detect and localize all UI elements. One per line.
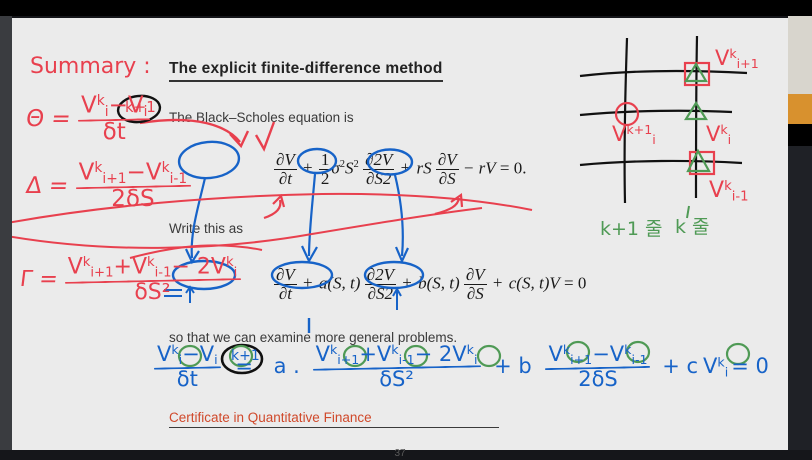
dv-dt-fraction-2: ∂V ∂t [274, 266, 297, 303]
page-title: The explicit finite-difference method [169, 60, 443, 82]
arrow-diffusion-to-a [192, 178, 205, 258]
scheme-delta-den: 2δS [545, 369, 650, 390]
delta-v2: V [146, 160, 162, 186]
scheme-lhs-v1: V [157, 342, 171, 366]
grid-label-middle-left-sub: i [652, 132, 656, 147]
scheme-d-v1-sup: k [563, 342, 570, 357]
theta-symbol: Θ = [24, 106, 72, 132]
scheme-lhs-fraction: Vki−Vi δt [154, 344, 221, 390]
scheme-d-v1: V [548, 342, 562, 366]
grid-hline-mid [580, 111, 732, 115]
grid-label-middle-right-sup: k [720, 122, 727, 137]
grid-label-bottom-right-sup: k [724, 179, 732, 194]
red-arrowhead-right [435, 195, 462, 214]
delta-minus: − [127, 160, 146, 186]
theta-v1: V [81, 93, 97, 119]
theta-v1-sup: k [97, 93, 105, 109]
d2v-ds2-fraction: ∂2V ∂S2 [363, 151, 394, 188]
gamma-v2-sup: k [147, 255, 155, 270]
grid-label-bottom-right-sub: i-1 [732, 189, 749, 204]
window-top-bar [0, 0, 812, 16]
delta-v1-sub: i+1 [102, 171, 126, 187]
delta-symbol: Δ = [24, 173, 70, 199]
gamma-symbol: Γ = [18, 267, 59, 292]
dv-ds-fraction: ∂V ∂S [436, 151, 459, 188]
dv-dt-fraction: ∂V ∂t [274, 151, 297, 188]
arrow-drift-to-b-head [302, 246, 317, 261]
footer-brand: Certificate in Quantitative Finance [169, 410, 499, 428]
gamma-v1-sub: i+1 [90, 266, 113, 281]
delta-denominator: 2δS [76, 188, 191, 211]
grid-label-top-right-sub: i+1 [737, 56, 759, 71]
grid-label-top-right-sup: k [729, 46, 736, 61]
scheme-gamma-fraction: Vki+1+Vki-1− 2Vki δS² [313, 344, 481, 390]
dv-ds-fraction-2: ∂V ∂S [464, 266, 487, 303]
grid-note-right: k 줄 [675, 212, 710, 239]
grid-label-middle-left-sup: k+1 [626, 122, 652, 137]
grid-label-middle-right-sub: i [728, 132, 732, 147]
grid-hline-bottom [580, 161, 742, 165]
grid-marker-square-bottom [690, 152, 714, 174]
delta-v2-sup: k [162, 160, 170, 176]
equals-zero-2: = 0 [564, 273, 586, 292]
gamma-plus: + [114, 254, 132, 279]
arrow-discount-to-c-head [396, 247, 408, 261]
grid-label-top-right-v: V [715, 46, 729, 70]
s-symbol: S [345, 158, 354, 177]
scheme-g-v2-sub: i-1 [399, 352, 415, 367]
lecture-slide: The explicit finite-difference method Th… [12, 18, 788, 450]
scheme-lhs-v2: V [200, 342, 214, 366]
grid-hline-top [580, 71, 747, 76]
grid-label-middle-right-v: V [706, 122, 720, 146]
black-scholes-equation: ∂V ∂t + 1 2 σ2S2 ∂2V ∂S2 + rS ∂V ∂S − rV… [274, 151, 526, 188]
delta-v1: V [79, 160, 95, 186]
write-this-as-text: Write this as [169, 221, 243, 236]
equals-zero-1: = 0. [500, 158, 527, 177]
red-check-mark [256, 122, 274, 149]
scheme-g-v3-sup: k [467, 342, 474, 357]
rs-term: rS [416, 158, 431, 177]
a-coefficient: a(S, t) [319, 273, 361, 292]
scheme-g-v2: V [377, 342, 391, 366]
gamma-v1: V [68, 254, 83, 279]
grid-vline-right [696, 36, 697, 198]
scheme-plus-b: + b [487, 354, 539, 378]
grid-label-top-right: Vki+1 [715, 46, 759, 71]
grid-marker-triangle-mid [686, 103, 706, 119]
scheme-delta-fraction: Vki+1−Vki-1 2δS [545, 344, 650, 390]
grid-marker-triangle-bottom [688, 151, 709, 171]
gamma-minus-2v: − 2V [171, 254, 225, 279]
scheme-g-v1: V [316, 342, 330, 366]
plus-sign-1: + [301, 158, 315, 177]
sigma-symbol: σ [331, 158, 339, 177]
gamma-v3-sup: k [226, 255, 234, 270]
minus-rv-term: − rV [463, 158, 496, 177]
gamma-v2-sub: i-1 [155, 266, 172, 281]
gamma-denominator: δS² [65, 282, 241, 304]
right-rail-black-strip [788, 124, 812, 146]
grid-label-middle-right: Vki [706, 122, 731, 147]
plus-sign-4: + [400, 273, 414, 292]
v-term-2: V [549, 273, 559, 292]
right-rail-beige-strip [788, 16, 812, 94]
right-frame-rail [788, 16, 812, 460]
delta-formula: Δ = Vki+1−Vki-1 2δS [26, 161, 190, 212]
red-arrow-upper-head [230, 131, 248, 146]
grid-label-middle-left-v: V [612, 122, 626, 146]
grid-marker-triangle-top [686, 64, 706, 81]
scheme-d-v1-sub: i+1 [570, 352, 592, 367]
scheme-cv-sup: k [717, 354, 724, 369]
scheme-d-v2-sub: i-1 [631, 352, 647, 367]
scheme-d-minus: − [592, 342, 610, 366]
scheme-gamma-den: δS² [313, 369, 481, 390]
plus-sign-3: + [301, 273, 315, 292]
gamma-v2: V [132, 254, 147, 279]
general-form-equation: ∂V ∂t + a(S, t) ∂2V ∂S2 + b(S, t) ∂V ∂S … [274, 266, 586, 303]
screen-capture: The explicit finite-difference method Th… [0, 0, 812, 460]
s-exponent: 2 [354, 159, 359, 170]
scheme-lhs-den: δt [154, 369, 221, 390]
scheme-tail: = 0 [728, 354, 769, 378]
intro-text: The Black–Scholes equation is [169, 110, 354, 125]
red-long-curve-2 [12, 208, 482, 248]
plus-sign-5: + [491, 273, 505, 292]
scheme-lhs-v2-sub: i [214, 352, 218, 367]
left-frame-rail [0, 16, 12, 460]
scheme-circled-superscript: k+1 [231, 348, 260, 364]
delta-fraction: Vki+1−Vki-1 2δS [76, 161, 191, 212]
scheme-lhs-minus: − [182, 342, 200, 366]
theta-denominator: δt [78, 121, 150, 144]
theta-circled-superscript: k+1 [125, 98, 156, 116]
scheme-g-plus: + [359, 342, 377, 366]
scheme-cv-v: V [703, 354, 717, 378]
scheme-lhs-v1-sup: k [171, 342, 178, 357]
gamma-formula: Γ = Vki+1+Vki-1− 2Vki δS² [20, 256, 240, 304]
d2v-ds2-fraction-2: ∂2V ∂S2 [365, 266, 396, 303]
summary-label: Summary : [30, 54, 151, 79]
grid-label-bottom-right-v: V [709, 178, 724, 203]
grid-vline-left [625, 38, 627, 203]
red-arrowhead-mid [264, 196, 284, 218]
plus-sign-2: + [399, 158, 413, 177]
scheme-g-v2-sup: k [391, 342, 398, 357]
gamma-fraction: Vki+1+Vki-1− 2Vki δS² [65, 256, 241, 304]
right-rail-orange-strip [788, 94, 812, 124]
one-half-fraction: 1 2 [319, 151, 332, 188]
grid-marker-square-top [685, 63, 709, 85]
scheme-a-label: a . [268, 354, 306, 378]
scheme-g-minus2v: − 2V [415, 342, 467, 366]
grid-label-middle-left: Vk+1i [612, 122, 656, 147]
scheme-g-v1-sub: i+1 [337, 352, 359, 367]
grid-label-bottom-right: Vki-1 [709, 178, 749, 204]
grid-note-left: k+1 줄 [600, 214, 663, 241]
scheme-d-v2: V [610, 342, 624, 366]
page-number: 37 [12, 448, 788, 459]
scheme-plus-c: + c [657, 354, 703, 378]
b-coefficient: b(S, t) [418, 273, 460, 292]
c-coefficient: c(S, t) [509, 273, 550, 292]
